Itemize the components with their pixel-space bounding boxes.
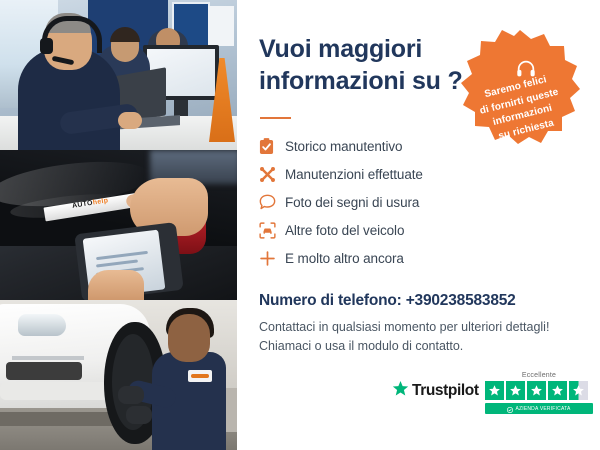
trustpilot-stars <box>485 381 593 400</box>
tools-cross-icon <box>259 163 285 185</box>
feature-item: Foto dei segni di usura <box>259 188 539 216</box>
contact-line-1: Contattaci in qualsiasi momento per ulte… <box>259 318 559 337</box>
photo-strip: AUTOhelp <box>0 0 237 450</box>
star-half-icon <box>569 381 588 400</box>
monitor-stand <box>174 100 188 116</box>
feature-item: Manutenzioni effettuate <box>259 160 539 188</box>
clipboard-check-icon <box>259 135 285 157</box>
verified-company-badge: AZIENDA VERIFICATA <box>485 403 593 414</box>
contact-text: Contattaci in qualsiasi momento per ulte… <box>259 318 559 357</box>
promo-banner: AUTOhelp <box>0 0 600 450</box>
plus-icon <box>259 247 285 269</box>
trustpilot-score-block: Eccellente <box>485 372 593 414</box>
car-headlight <box>18 314 66 336</box>
headset-earcup <box>40 38 53 54</box>
car-grille <box>6 362 82 380</box>
trustpilot-star-icon <box>392 380 409 402</box>
feature-label: Manutenzioni effettuate <box>285 167 423 182</box>
uniform-logo-patch <box>188 370 212 382</box>
speech-bubble-icon <box>259 191 285 213</box>
feature-label: E molto altro ancora <box>285 251 404 266</box>
chrome-trim <box>12 356 84 360</box>
info-badge: Saremo felici di fornirti queste informa… <box>459 28 581 146</box>
star-icon <box>506 381 525 400</box>
feature-label: Altre foto del veicolo <box>285 223 404 238</box>
mechanic-wheel-photo <box>0 300 237 450</box>
page-title: Vuoi maggiori informazioni su ? <box>259 34 469 97</box>
mechanic-glove-secondary <box>126 406 152 424</box>
phone-number[interactable]: Numero di telefono: +390238583852 <box>259 292 516 310</box>
star-icon <box>485 381 504 400</box>
feature-item: Altre foto del veicolo <box>259 216 539 244</box>
title-divider <box>260 117 291 119</box>
vehicle-measurement-photo: AUTOhelp <box>0 150 237 300</box>
star-icon <box>548 381 567 400</box>
star-icon <box>527 381 546 400</box>
feature-label: Foto dei segni di usura <box>285 195 419 210</box>
feature-label: Storico manutentivo <box>285 139 402 154</box>
check-circle-icon <box>507 400 513 418</box>
feature-item: Storico manutentivo <box>259 132 539 160</box>
contact-line-2: Chiamaci o usa il modulo di contatto. <box>259 337 559 356</box>
car-scan-icon <box>259 219 285 241</box>
main-agent-hand <box>118 112 142 129</box>
feature-item: E molto altro ancora <box>259 244 539 272</box>
trustpilot-logo: Trustpilot <box>392 380 479 402</box>
trustpilot-rating[interactable]: Trustpilot Eccellente <box>392 372 592 420</box>
wall-poster-secondary <box>208 6 234 46</box>
call-center-agents-photo <box>0 0 237 150</box>
feature-list: Storico manutentivo Manutenzi <box>259 132 539 272</box>
verified-label: AZIENDA VERIFICATA <box>515 406 570 412</box>
car-bumper <box>0 382 108 400</box>
left-hand-holding-tablet <box>88 270 144 300</box>
mechanic-glove <box>118 386 144 404</box>
trustpilot-rating-label: Eccellente <box>485 372 593 379</box>
trustpilot-wordmark: Trustpilot <box>412 382 479 400</box>
content-panel: Vuoi maggiori informazioni su ? Saremo f… <box>237 0 600 450</box>
mechanic-head <box>168 314 210 362</box>
